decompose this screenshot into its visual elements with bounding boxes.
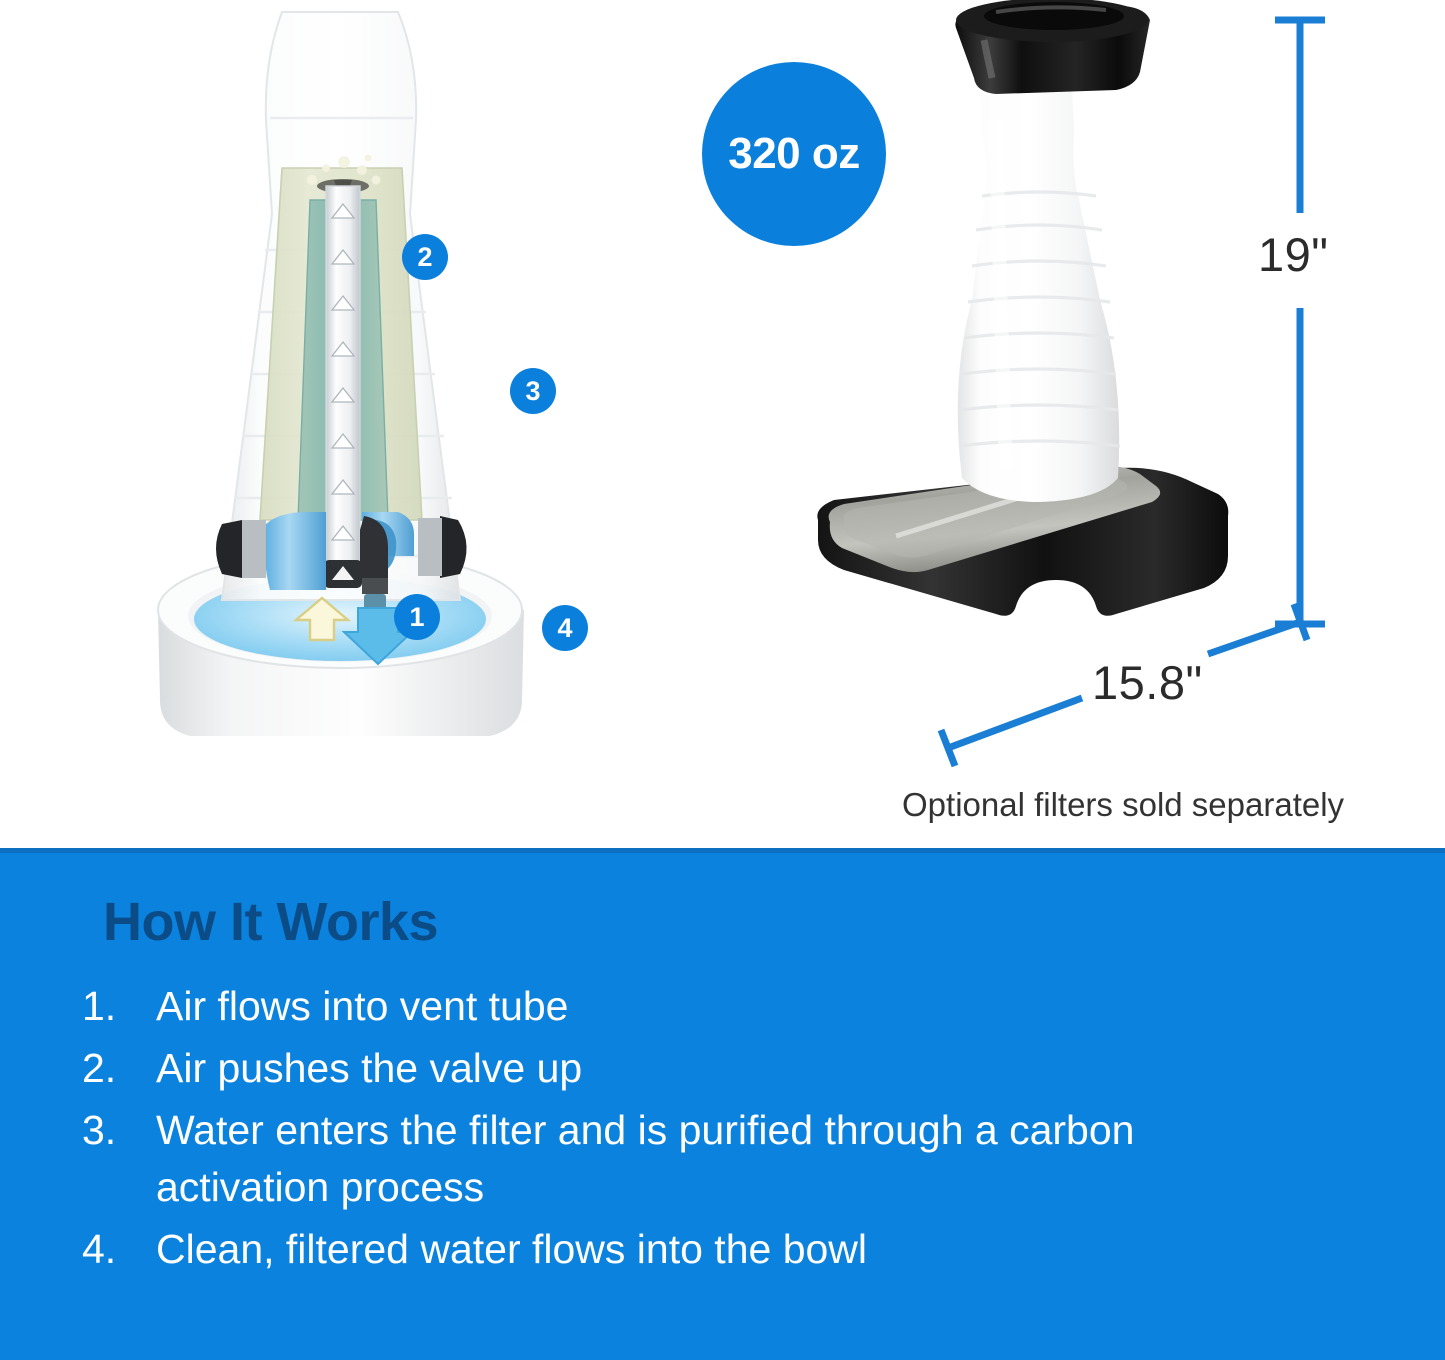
- width-dimension-cap-left: [941, 730, 955, 766]
- diagram-callout-4: 4: [542, 605, 588, 651]
- step-number: 1.: [82, 978, 156, 1035]
- fountain-cutaway-diagram: 1 2 3 4: [130, 0, 550, 770]
- cutaway-vent-tube: [324, 186, 362, 588]
- diagram-callout-2: 2: [402, 234, 448, 280]
- diagram-callout-1: 1: [394, 594, 440, 640]
- step-text: Air flows into vent tube: [156, 978, 1256, 1035]
- width-dimension-line-left: [948, 698, 1082, 748]
- optional-filters-caption: Optional filters sold separately: [902, 786, 1344, 824]
- product-photo: [800, 0, 1250, 700]
- diagram-callout-3: 3: [510, 368, 556, 414]
- list-item: 2. Air pushes the valve up: [82, 1040, 1382, 1097]
- how-it-works-panel: How It Works 1. Air flows into vent tube…: [0, 848, 1445, 1360]
- step-number: 2.: [82, 1040, 156, 1097]
- infographic-page: 1 2 3 4 320 oz: [0, 0, 1445, 1360]
- step-text: Air pushes the valve up: [156, 1040, 1256, 1097]
- step-number: 3.: [82, 1102, 156, 1159]
- product-tower: [958, 86, 1120, 502]
- how-it-works-steps-list: 1. Air flows into vent tube 2. Air pushe…: [82, 978, 1382, 1283]
- list-item: 4. Clean, filtered water flows into the …: [82, 1221, 1382, 1278]
- step-text: Water enters the filter and is purified …: [156, 1102, 1256, 1216]
- how-it-works-title: How It Works: [103, 895, 438, 949]
- product-illustration-area: 1 2 3 4 320 oz: [0, 0, 1445, 848]
- width-dimension-cap-right: [1294, 604, 1307, 640]
- height-dimension-label: 19": [1258, 227, 1328, 282]
- step-number: 4.: [82, 1221, 156, 1278]
- step-text: Clean, filtered water flows into the bow…: [156, 1221, 1256, 1278]
- list-item: 1. Air flows into vent tube: [82, 978, 1382, 1035]
- width-dimension-label: 15.8": [1092, 655, 1203, 710]
- product-lid: [955, 0, 1150, 94]
- list-item: 3. Water enters the filter and is purifi…: [82, 1102, 1382, 1216]
